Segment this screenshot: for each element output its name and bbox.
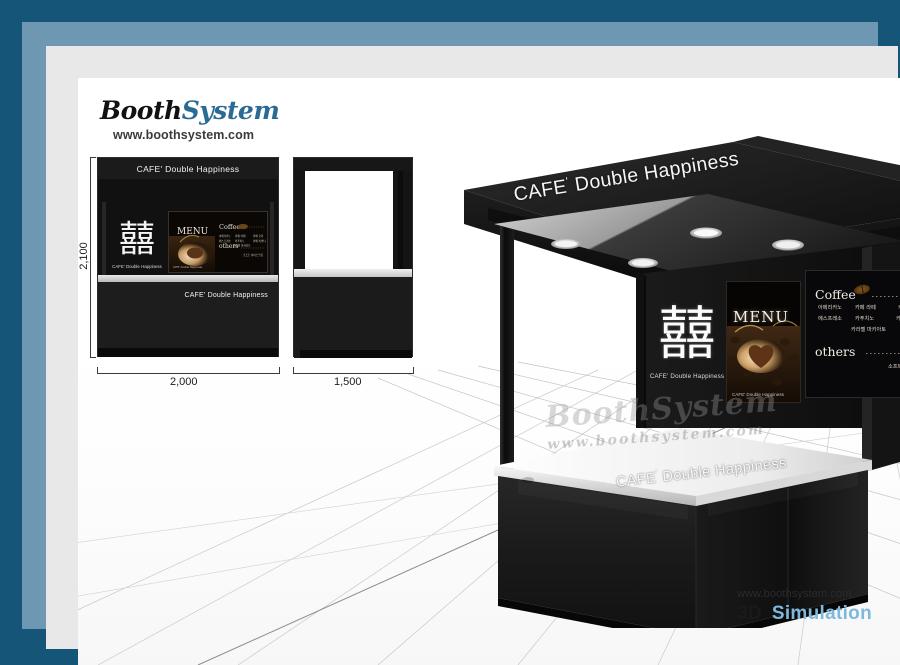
- menu-item: 에스프레소: [818, 315, 842, 322]
- logo-url: www.boothsystem.com: [113, 128, 279, 142]
- side-elevation-fascia: [294, 158, 412, 170]
- footer-url: www.boothsystem.com: [737, 588, 872, 600]
- dim-height-tick-top: [90, 157, 96, 158]
- menu-item: 카페 비엔나: [896, 315, 900, 322]
- front-elevation-drawing: CAFE' Double Happiness 囍 CAFE' Double Ha…: [97, 157, 279, 357]
- svg-text:others: others: [219, 243, 238, 250]
- poster-artwork: [727, 282, 800, 402]
- side-elevation-opening: [305, 171, 393, 269]
- svg-text:Coffee: Coffee: [219, 223, 240, 231]
- side-elevation-counter-top: [294, 269, 412, 277]
- side-elevation-counter: [294, 277, 412, 358]
- board-dots-others: [866, 353, 900, 354]
- logo-booth: Booth: [100, 96, 182, 125]
- frame-middle: BoothSystem www.boothsystem.com CAFE' Do…: [22, 22, 878, 629]
- menu-item: 소프트 아이스크림: [888, 363, 900, 370]
- footer-block: www.boothsystem.com 3DSimulation: [737, 588, 872, 625]
- hanja-caption: CAFE' Double Happiness: [650, 373, 724, 380]
- poster-caption: CAFE' Double Happiness: [732, 392, 784, 397]
- dim-width-side-line: [293, 373, 414, 374]
- side-elevation-post: [398, 171, 403, 269]
- svg-text:카페 모카: 카페 모카: [253, 234, 264, 238]
- drawing-canvas: BoothSystem www.boothsystem.com CAFE' Do…: [78, 78, 900, 665]
- svg-text:카페 라떼: 카페 라떼: [235, 234, 246, 238]
- svg-text:카페 비엔나: 카페 비엔나: [253, 239, 266, 243]
- side-elevation-kickplate: [300, 350, 412, 358]
- menu-item: 카푸치노: [855, 315, 874, 322]
- dim-width-front-label: 2,000: [170, 376, 198, 388]
- dim-height-line: [90, 157, 91, 357]
- coffee-bean-icon: [853, 283, 871, 295]
- front-elevation-counter-top: [98, 275, 278, 282]
- dim-width-side-tick-l: [293, 367, 294, 374]
- booth-3d-render: CAFE' Double Happiness 囍 CAFE' Double Ha…: [458, 128, 900, 628]
- side-elevation-drawing: [293, 157, 413, 357]
- dim-width-front-tick-l: [97, 367, 98, 374]
- dim-height-label: 2,100: [78, 242, 90, 270]
- front-elevation-fascia: CAFE' Double Happiness: [98, 158, 278, 179]
- render-menu-poster: MENU CAFE' Double Happiness: [726, 281, 801, 403]
- logo-wordmark: BoothSystem: [100, 96, 279, 125]
- front-elevation-menu-board: MENU Coffee 아메리카노카페 라떼카페 모카 에스프레소카푸치노카페 …: [168, 211, 268, 273]
- board-section-others: others: [815, 344, 855, 359]
- poster-title: MENU: [733, 308, 789, 326]
- footer-simulation-word: Simulation: [772, 603, 872, 624]
- front-elevation-kickplate: [98, 348, 278, 357]
- hanja-glyph: 囍: [119, 222, 155, 258]
- svg-text:소프트 아이스크림: 소프트 아이스크림: [243, 253, 264, 257]
- page-background: BoothSystem www.boothsystem.com CAFE' Do…: [0, 0, 900, 651]
- logo-system: System: [182, 96, 280, 125]
- board-section-coffee: Coffee: [815, 287, 856, 302]
- dim-width-side-label: 1,500: [334, 376, 362, 388]
- front-elevation-hanja-panel: 囍 CAFE' Double Happiness: [111, 209, 163, 281]
- svg-text:MENU: MENU: [177, 227, 209, 237]
- dim-width-front-line: [97, 373, 280, 374]
- board-dots-coffee: [872, 296, 900, 297]
- render-hanja-panel: 囍 CAFE' Double Happiness: [649, 281, 725, 406]
- svg-text:CAFE' Double Happiness: CAFE' Double Happiness: [173, 266, 203, 269]
- dim-height-tick-bottom: [90, 357, 96, 358]
- menu-item: 아메리카노: [818, 304, 842, 311]
- menu-item: 카페 라떼: [855, 304, 876, 311]
- front-elevation-upper-bay: 囍 CAFE' Double Happiness: [98, 179, 278, 275]
- svg-text:아메리카노: 아메리카노: [219, 234, 232, 238]
- front-elevation-counter: CAFE' Double Happiness: [98, 282, 278, 357]
- dim-width-front-tick-r: [279, 367, 280, 374]
- hanja-glyph: 囍: [659, 307, 716, 361]
- brand-logo: BoothSystem www.boothsystem.com: [100, 96, 279, 142]
- frame-inner: BoothSystem www.boothsystem.com CAFE' Do…: [46, 46, 898, 649]
- footer-simulation-label: 3DSimulation: [737, 603, 872, 625]
- menu-item: 카라멜 마키아토: [851, 326, 886, 333]
- render-menu-board: Coffee 아메리카노 에스프레소 카페 라떼 카푸치노 카라멜 마키아토 카…: [805, 270, 900, 398]
- footer-3d: 3D: [737, 603, 762, 624]
- hanja-caption: CAFE' Double Happiness: [112, 264, 162, 269]
- dim-width-side-tick-r: [413, 367, 414, 374]
- front-elevation-fascia-text: CAFE' Double Happiness: [137, 164, 240, 174]
- front-elevation-counter-text: CAFE' Double Happiness: [184, 292, 268, 299]
